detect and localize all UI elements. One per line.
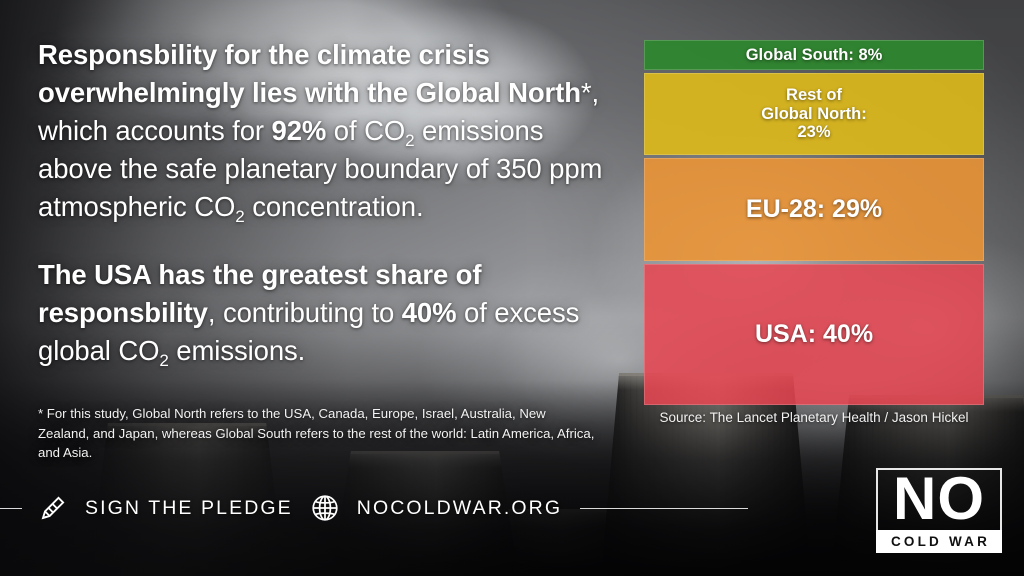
logo-secondary-text: COLD WAR bbox=[876, 530, 1002, 553]
chart-bar-label: Global South: 8% bbox=[740, 46, 889, 64]
paragraph-one-lead: Responsbility for the climate crisis ove… bbox=[38, 39, 581, 108]
chart-bar-label-line1: Rest of bbox=[786, 86, 842, 104]
chart-bar-eu-28: EU-28: 29% bbox=[644, 158, 984, 261]
paragraph-one-asterisk: * bbox=[581, 77, 592, 108]
stacked-bar-chart: Global South: 8% Rest of Global North: 2… bbox=[644, 40, 984, 405]
paragraph-one-tail-c: concentration. bbox=[245, 191, 424, 222]
paragraph-one-stat: 92% bbox=[272, 115, 327, 146]
chart-bar-global-south: Global South: 8% bbox=[644, 40, 984, 70]
nocoldwar-url-link[interactable]: NOCOLDWAR.ORG bbox=[357, 497, 562, 520]
sign-the-pledge-label: SIGN THE PLEDGE bbox=[85, 497, 293, 520]
co2-subscript: 2 bbox=[405, 131, 414, 150]
paragraph-one: Responsbility for the climate crisis ove… bbox=[38, 36, 608, 226]
chart-bar-usa: USA: 40% bbox=[644, 264, 984, 405]
co2-subscript: 2 bbox=[159, 351, 168, 370]
paragraph-two-stat: 40% bbox=[402, 297, 457, 328]
chart-source-attribution: Source: The Lancet Planetary Health / Ja… bbox=[644, 410, 984, 425]
chart-bar-label: USA: 40% bbox=[749, 320, 879, 348]
chart-bar-label: Rest of Global North: 23% bbox=[755, 86, 872, 141]
chart-bar-label-line2: Global North: bbox=[761, 105, 866, 123]
paragraph-one-tail-a: of CO bbox=[326, 115, 405, 146]
footer-bar: SIGN THE PLEDGE NOCOLDWAR.ORG bbox=[0, 486, 1024, 530]
no-cold-war-logo: NO COLD WAR bbox=[876, 468, 1002, 553]
infographic-canvas: Responsbility for the climate crisis ove… bbox=[0, 0, 1024, 576]
footnote: * For this study, Global North refers to… bbox=[38, 404, 598, 463]
paragraph-two-tail-b: emissions. bbox=[169, 335, 305, 366]
chart-bar-label: EU-28: 29% bbox=[740, 195, 888, 223]
paragraph-two: The USA has the greatest share of respon… bbox=[38, 256, 608, 370]
footer-rule-right bbox=[580, 508, 748, 509]
footer-rule-left bbox=[0, 508, 22, 509]
copy-column: Responsbility for the climate crisis ove… bbox=[38, 36, 608, 476]
chart-bar-label-line3: 23% bbox=[797, 123, 830, 141]
co2-subscript: 2 bbox=[235, 207, 244, 226]
logo-primary-text: NO bbox=[876, 468, 1002, 530]
globe-icon bbox=[310, 493, 340, 523]
paragraph-two-mid: , contributing to bbox=[208, 297, 402, 328]
chart-bar-rest-of-global-north: Rest of Global North: 23% bbox=[644, 73, 984, 155]
pencil-icon bbox=[38, 493, 68, 523]
